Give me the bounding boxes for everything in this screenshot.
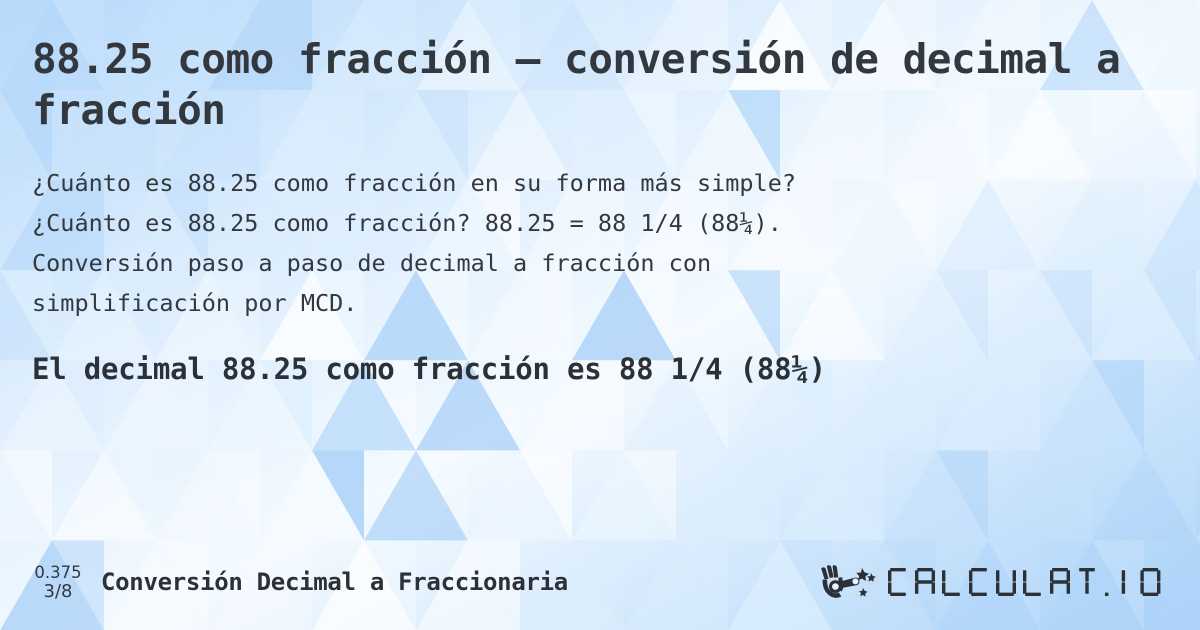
calculatio-logo[interactable] [818, 562, 1176, 602]
hand-magic-wand-icon [818, 562, 880, 602]
footer-left-group: 0.375 3/8 Conversión Decimal a Fracciona… [32, 563, 568, 601]
lead-line-1: ¿Cuánto es 88.25 como fracción en su for… [32, 163, 1170, 203]
calculatio-wordmark [886, 562, 1176, 602]
decimal-fraction-icon-denominator: 3/8 [44, 582, 73, 601]
footer: 0.375 3/8 Conversión Decimal a Fracciona… [32, 558, 1176, 606]
decimal-fraction-icon-numerator: 0.375 [34, 563, 81, 582]
footer-title: Conversión Decimal a Fraccionaria [101, 568, 568, 596]
lead-line-4: simplificación por MCD. [32, 283, 1170, 323]
lead-paragraph: ¿Cuánto es 88.25 como fracción en su for… [32, 163, 1170, 323]
og-card: 88.25 como fracción – conversión de deci… [0, 0, 1200, 630]
answer-statement: El decimal 88.25 como fracción es 88 1/4… [32, 349, 1170, 389]
lead-line-2: ¿Cuánto es 88.25 como fracción? 88.25 = … [32, 203, 1170, 243]
decimal-fraction-icon: 0.375 3/8 [32, 563, 84, 601]
lead-line-3: Conversión paso a paso de decimal a frac… [32, 243, 1170, 283]
page-title: 88.25 como fracción – conversión de deci… [32, 34, 1170, 136]
